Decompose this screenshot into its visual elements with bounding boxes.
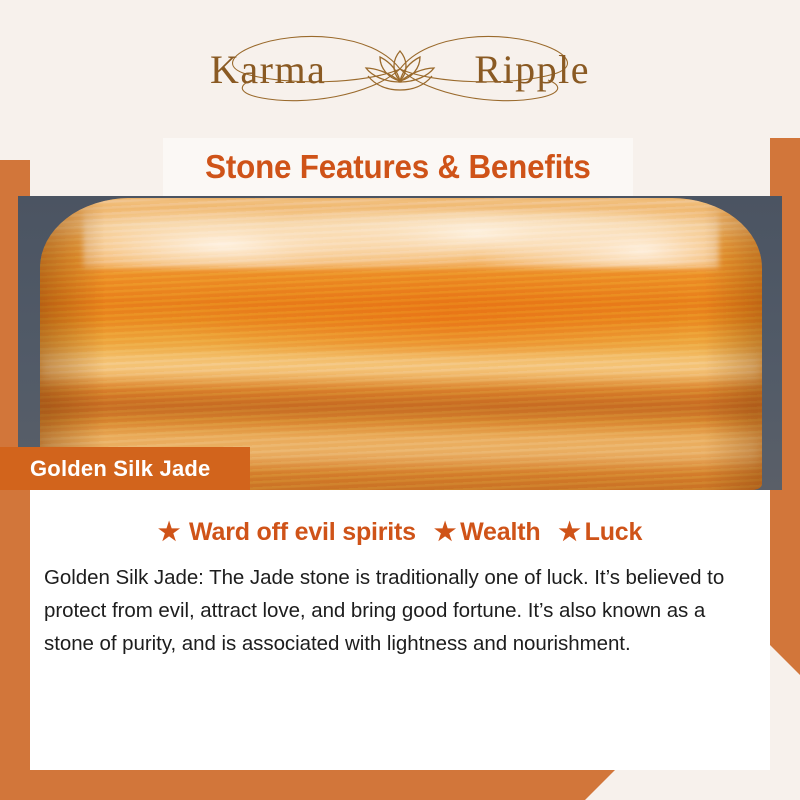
header: Karma Ripple	[0, 0, 800, 138]
title-card: Stone Features & Benefits	[163, 138, 633, 196]
stone-edge-shadow-right	[704, 198, 762, 490]
brand-name-first: Karma	[210, 46, 326, 93]
brand-name: Karma Ripple	[200, 46, 600, 93]
page-title: Stone Features & Benefits	[205, 148, 590, 186]
star-icon: ★	[434, 520, 456, 545]
product-image	[18, 196, 782, 490]
feature-item-wealth: ★ Wealth	[434, 518, 541, 547]
star-icon: ★	[158, 520, 180, 545]
content-panel: ★ Ward off evil spirits ★ Wealth ★ Luck …	[30, 490, 770, 770]
feature-list: ★ Ward off evil spirits ★ Wealth ★ Luck	[38, 518, 762, 547]
infographic-canvas: Karma Ripple Stone Features & Benefits G…	[0, 0, 800, 800]
stone-name-banner: Golden Silk Jade	[0, 447, 250, 490]
brand-logo: Karma Ripple	[200, 24, 600, 114]
description-text: Golden Silk Jade: The Jade stone is trad…	[38, 561, 762, 661]
stone-name-label: Golden Silk Jade	[30, 456, 210, 482]
frame-bar-bottom	[0, 770, 615, 800]
feature-item-luck: ★ Luck	[558, 518, 642, 547]
feature-label: Ward off evil spirits	[189, 518, 416, 547]
feature-item-ward-off-evil-spirits: ★ Ward off evil spirits	[158, 518, 416, 547]
star-icon: ★	[558, 520, 580, 545]
feature-label: Wealth	[460, 518, 540, 547]
brand-name-last: Ripple	[474, 46, 590, 93]
feature-label: Luck	[585, 518, 643, 547]
